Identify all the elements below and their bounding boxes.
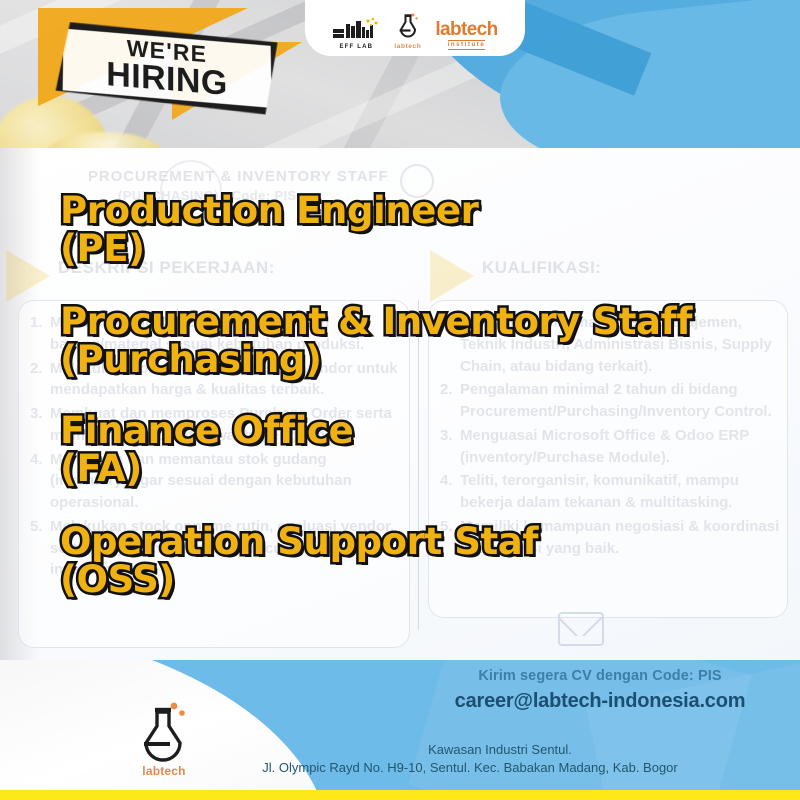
labtech-institute-subtitle: institute <box>448 40 486 50</box>
list-item: Menguasai Microsoft Office & Odoo ERP (i… <box>440 425 790 469</box>
labtech-wordmark: labtech <box>435 20 497 39</box>
envelope-flap <box>560 614 602 636</box>
bottom-yellow-strip <box>0 790 800 800</box>
labtech-flask-caption: labtech <box>394 43 421 50</box>
labtech-institute-logo: labtech institute <box>435 20 497 50</box>
hiring-label: HIRING <box>106 58 227 100</box>
apply-email[interactable]: career@labtech-indonesia.com <box>400 690 800 713</box>
apply-instruction: Kirim segera CV dengan Code: PIS <box>400 668 800 684</box>
list-item: Pengalaman minimal 2 tahun di bidang Pro… <box>440 379 790 423</box>
efflab-caption: EFF LAB <box>339 44 373 50</box>
address-line-1: Kawasan Industri Sentul. <box>220 742 780 757</box>
efflab-building-icon <box>332 17 380 43</box>
job-poster: WE'RE HIRING <box>0 0 800 800</box>
list-item: Teliti, terorganisir, komunikatif, mampu… <box>440 470 790 514</box>
job-title-operation-support-staf[interactable]: Operation Support Staf (OSS) <box>60 523 538 600</box>
job-title-production-engineer[interactable]: Production Engineer (PE) <box>60 192 479 269</box>
ghost-section-title: PROCUREMENT & INVENTORY STAFF <box>88 168 389 185</box>
job-title-procurement-inventory-staff[interactable]: Procurement & Inventory Staff (Purchasin… <box>60 303 692 380</box>
footer-labtech-logo: labtech <box>118 698 210 790</box>
qualifications-heading: KUALIFIKASI: <box>482 258 601 278</box>
job-title-finance-office[interactable]: Finance Office (FA) <box>60 412 353 489</box>
labtech-flask-logo: labtech <box>394 12 421 50</box>
envelope-icon <box>558 612 604 646</box>
flask-icon <box>133 698 195 766</box>
logo-bar: EFF LAB labtech labtech <box>305 0 525 56</box>
address-line-2: Jl. Olympic Rayd No. H9-10, Sentul. Kec.… <box>150 760 790 775</box>
flask-icon <box>395 12 421 42</box>
arrow-marker-icon <box>6 250 50 302</box>
efflab-logo: EFF LAB <box>332 17 380 50</box>
